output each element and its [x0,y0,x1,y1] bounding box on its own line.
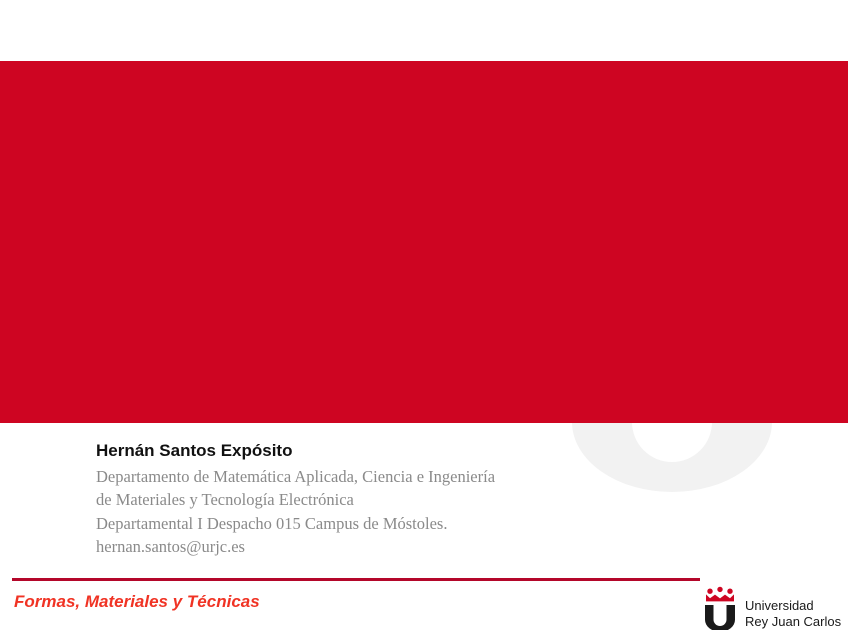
author-department-line-1: Departamento de Matemática Aplicada, Cie… [96,465,495,488]
author-email[interactable]: hernan.santos@urjc.es [96,535,495,558]
author-block: Hernán Santos Expósito Departamento de M… [96,440,495,558]
urjc-logo: Universidad Rey Juan Carlos [702,586,841,630]
title-slide: Formas, Materiales y Técnicas Tema 2. Co… [0,0,848,636]
author-office-location: Departamental I Despacho 015 Campus de M… [96,512,495,535]
urjc-crown-u-icon [702,586,738,630]
author-department-line-2: de Materiales y Tecnología Electrónica [96,488,495,511]
urjc-logo-wordmark: Universidad Rey Juan Carlos [745,598,841,630]
author-name: Hernán Santos Expósito [96,440,495,462]
footer-divider [12,578,700,581]
urjc-logo-line-1: Universidad [745,598,841,613]
urjc-logo-line-2: Rey Juan Carlos [745,614,841,629]
hero-band [0,61,848,423]
footer-subject-label: Formas, Materiales y Técnicas [14,592,260,612]
